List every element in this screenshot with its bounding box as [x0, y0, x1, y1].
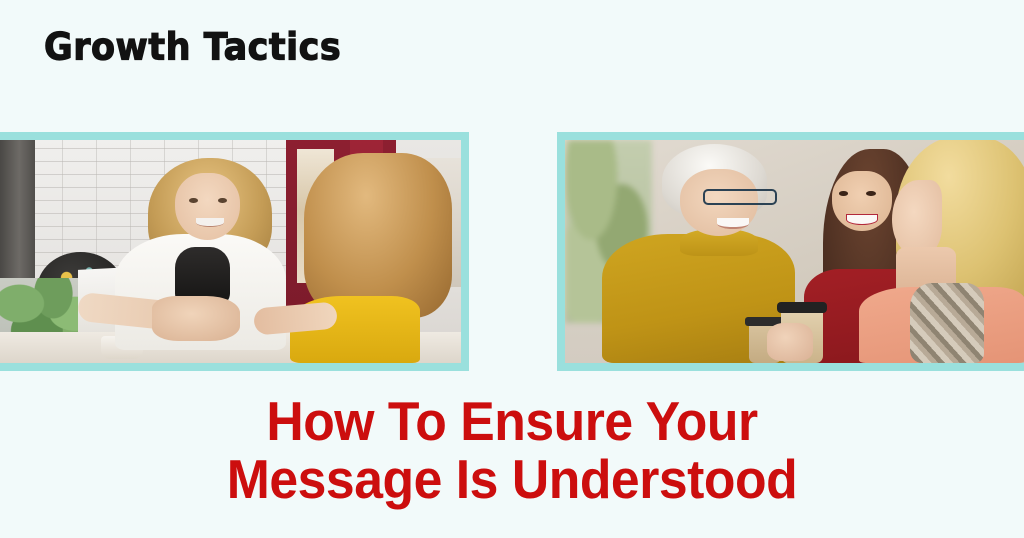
handshake-photo-card [0, 132, 469, 371]
page-root: Growth Tactics [0, 0, 1024, 538]
businesswoman-face [175, 173, 240, 240]
three-women-coffee-photo [565, 140, 1024, 363]
handshake-photo [0, 140, 461, 363]
guest-woman-hair [304, 153, 452, 318]
eyeglasses-icon [703, 189, 777, 205]
three-women-coffee-photo-card [557, 132, 1024, 371]
page-title-line-2: Message Is Understood [31, 450, 994, 508]
blonde-woman-scarf [910, 283, 984, 363]
blonde-woman-face [892, 180, 943, 256]
site-logo[interactable]: Growth Tactics [44, 29, 341, 68]
page-title-line-1: How To Ensure Your [31, 392, 994, 450]
handshake-hands [152, 296, 240, 341]
coffee-cup-front-lid [777, 302, 828, 313]
page-title: How To Ensure Your Message Is Understood [31, 392, 994, 508]
businesswoman-smile [196, 218, 224, 227]
senior-woman-hand [767, 323, 813, 361]
brunette-woman-smile [846, 214, 878, 225]
